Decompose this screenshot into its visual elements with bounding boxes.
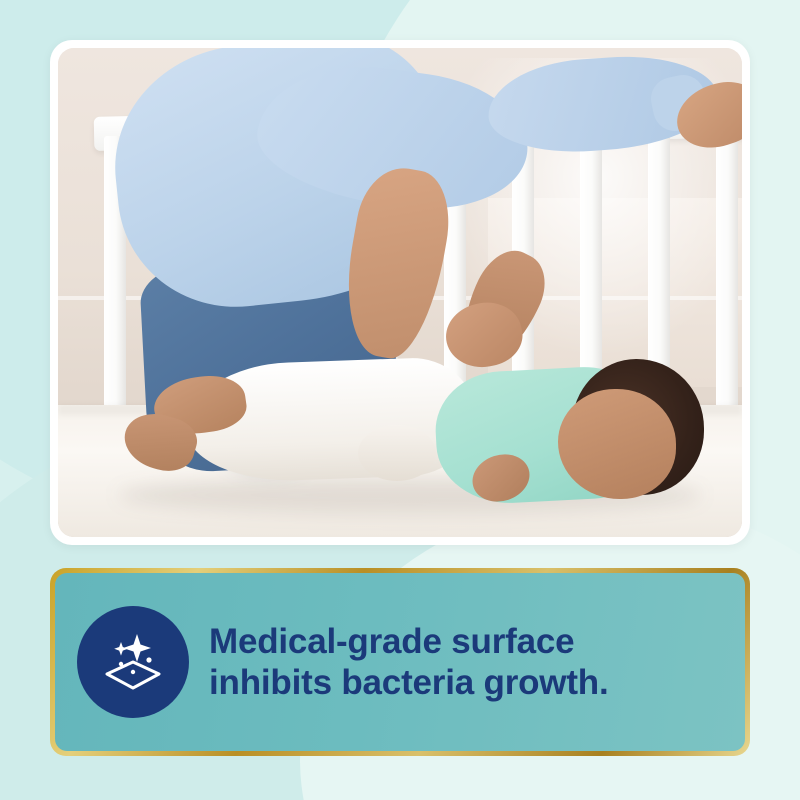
crib-photo (58, 48, 742, 537)
claim-line-1: Medical-grade surface (209, 621, 608, 662)
claim-line-2: inhibits bacteria growth. (209, 662, 608, 703)
photo-card (50, 40, 750, 545)
claim-banner: Medical-grade surface inhibits bacteria … (50, 568, 750, 756)
baby-pants-ruffle (358, 425, 436, 481)
sparkle-mattress-icon (77, 606, 189, 718)
promo-poster: Medical-grade surface inhibits bacteria … (0, 0, 800, 800)
baby-head (558, 389, 676, 499)
claim-text: Medical-grade surface inhibits bacteria … (209, 621, 608, 704)
claim-banner-inner: Medical-grade surface inhibits bacteria … (55, 573, 745, 751)
